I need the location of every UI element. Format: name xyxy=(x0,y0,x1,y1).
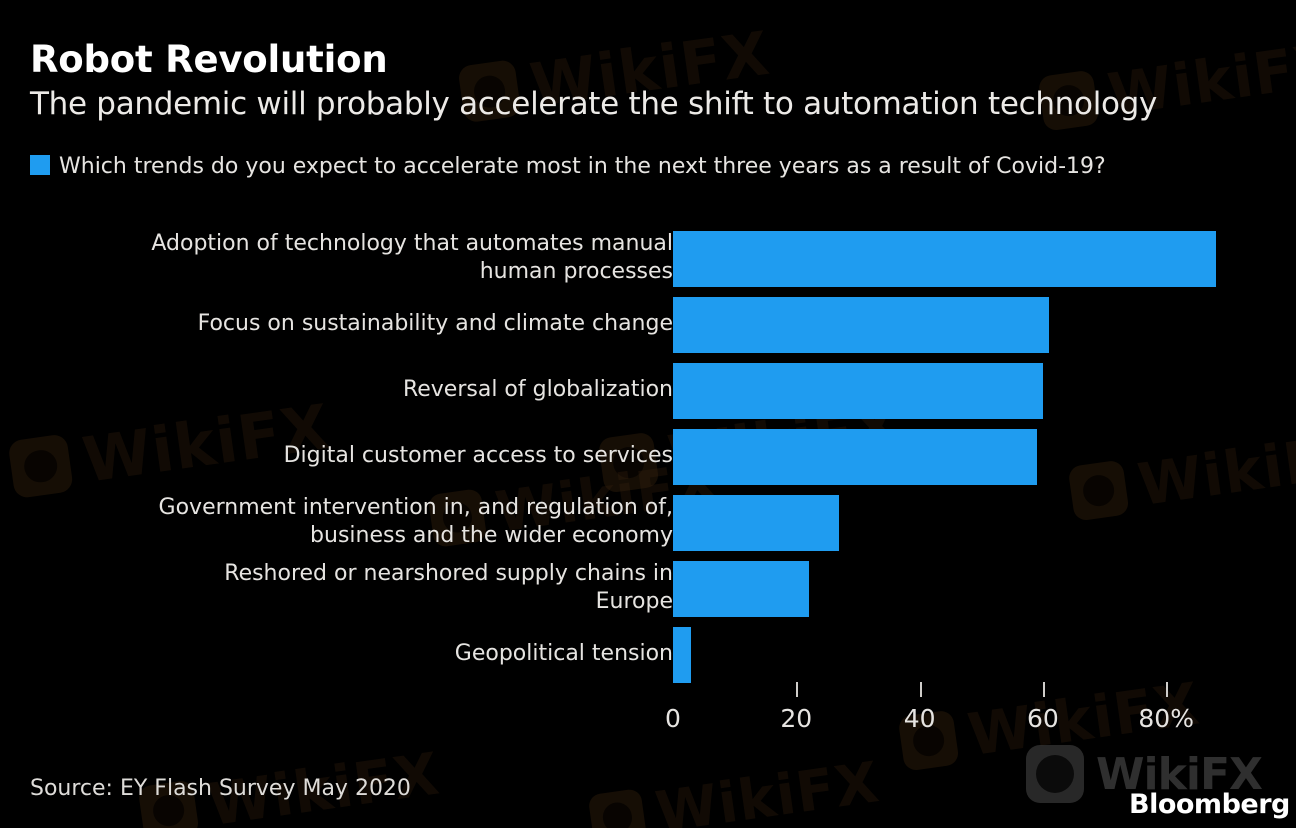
bar-row: Reversal of globalization xyxy=(0,363,1296,419)
background-watermark: WikiFX xyxy=(1037,29,1296,138)
bar-row: Focus on sustainability and climate chan… xyxy=(0,297,1296,353)
bar-category-label: Reshored or nearshored supply chains in … xyxy=(28,560,673,616)
chart-legend: Which trends do you expect to accelerate… xyxy=(30,152,1210,181)
bloomberg-logo: Bloomberg xyxy=(1129,789,1290,820)
bar-row: Adoption of technology that automates ma… xyxy=(0,231,1296,287)
bar-category-label: Government intervention in, and regulati… xyxy=(28,494,673,550)
axis-tick xyxy=(1166,682,1168,697)
bar xyxy=(673,231,1216,287)
source-note: Source: EY Flash Survey May 2020 xyxy=(30,776,411,801)
bar xyxy=(673,561,809,617)
axis-tick xyxy=(796,682,798,697)
bar-category-label: Adoption of technology that automates ma… xyxy=(28,230,673,286)
legend-swatch-icon xyxy=(30,155,50,175)
bar xyxy=(673,627,691,683)
axis-tick-label: 20 xyxy=(780,704,812,733)
bar xyxy=(673,363,1043,419)
axis-tick-label: 40 xyxy=(904,704,936,733)
bar-row: Government intervention in, and regulati… xyxy=(0,495,1296,551)
bar-category-label: Focus on sustainability and climate chan… xyxy=(28,310,673,338)
plot-area: Adoption of technology that automates ma… xyxy=(0,222,1296,682)
bar-category-label: Reversal of globalization xyxy=(28,376,673,404)
axis-tick xyxy=(920,682,922,697)
bar-category-label: Digital customer access to services xyxy=(28,442,673,470)
background-watermark: WikiFX xyxy=(587,750,884,828)
axis-tick-label: 80% xyxy=(1138,704,1194,733)
axis-tick xyxy=(1043,682,1045,697)
bar-row: Reshored or nearshored supply chains in … xyxy=(0,561,1296,617)
watermark-badge-icon xyxy=(588,788,648,828)
x-axis: 020406080% xyxy=(0,682,1296,742)
bar-row: Digital customer access to services xyxy=(0,429,1296,485)
chart-title: Robot Revolution xyxy=(30,38,387,81)
bar-category-label: Geopolitical tension xyxy=(28,640,673,668)
legend-label: Which trends do you expect to accelerate… xyxy=(59,154,1106,179)
chart-page: WikiFXWikiFXWikiFXWikiFXWikiFXWikiFXWiki… xyxy=(0,0,1296,828)
axis-tick-label: 0 xyxy=(665,704,681,733)
bar-row: Geopolitical tension xyxy=(0,627,1296,683)
bar xyxy=(673,297,1049,353)
bar xyxy=(673,429,1037,485)
wikifx-badge-icon xyxy=(1026,745,1084,803)
bar xyxy=(673,495,839,551)
axis-tick-label: 60 xyxy=(1027,704,1059,733)
chart-subtitle: The pandemic will probably accelerate th… xyxy=(30,86,1157,122)
